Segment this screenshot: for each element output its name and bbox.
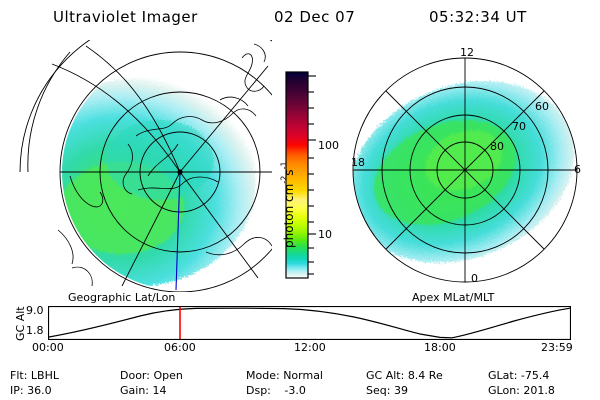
mlt-label-12: 12 [460,46,474,59]
status-seq: Seq: 39 [366,384,408,397]
colorbar-label-100: 100 [318,139,339,152]
status-ip-label: IP: [10,384,24,397]
apex-caption: Apex MLat/MLT [412,291,494,304]
mlt-spokes [353,58,577,282]
status-flt: Flt: LBHL [10,369,59,382]
status-seq-label: Seq: [366,384,390,397]
strip-xtick-0000: 00:00 [32,341,64,354]
status-gcalt-value: 8.4 Re [408,369,443,382]
status-glat: GLat: -75.4 [488,369,549,382]
status-dsp-value: -3.0 [284,384,305,397]
status-glat-label: GLat: [488,369,517,382]
pole-center-marker [177,169,182,174]
status-ip-value: 36.0 [27,384,52,397]
observation-date: 02 Dec 07 [274,8,355,26]
colorbar-exp-minus1: -1 [280,161,289,169]
status-gain-value: 14 [153,384,167,397]
status-door-value: Open [153,369,182,382]
status-seq-value: 39 [394,384,408,397]
colorbar-exp-minus2: -2 [280,176,289,184]
apex-plot [350,40,592,292]
status-ip: IP: 36.0 [10,384,52,397]
strip-xtick-1200: 12:00 [294,341,326,354]
mlat-label-60: 60 [535,100,549,113]
mlt-label-6: 6 [574,163,581,176]
colorbar-unit-photon: photon cm [282,184,296,248]
status-gain: Gain: 14 [120,384,167,397]
status-gcalt-label: GC Alt: [366,369,404,382]
geographic-plot [10,40,272,292]
mlat-label-70: 70 [512,120,526,133]
status-glon-value: 201.8 [523,384,555,397]
status-dsp: Dsp: -3.0 [246,384,306,397]
strip-xtick-2359: 23:59 [541,341,573,354]
mlat-label-80: 80 [490,140,504,153]
status-glon-label: GLon: [488,384,520,397]
orbit-altitude-plot [48,306,571,340]
apex-panel [350,40,592,292]
status-glat-value: -75.4 [521,369,549,382]
instrument-title: Ultraviolet Imager [53,8,198,26]
observation-time: 05:32:34 UT [429,8,527,26]
status-gain-label: Gain: [120,384,149,397]
status-mode: Mode: Normal [246,369,323,382]
colorbar-unit-s: s [282,169,296,175]
strip-chart [48,306,571,340]
mlt-label-0: 0 [471,272,478,285]
strip-ytick-low: 1.8 [26,324,44,337]
status-mode-label: Mode: [246,369,280,382]
colorbar-axis-title: photon cm-2s-1 [278,161,297,248]
status-door-label: Door: [120,369,150,382]
strip-xtick-1800: 18:00 [424,341,456,354]
status-mode-value: Normal [283,369,323,382]
uvi-display: Ultraviolet Imager 02 Dec 07 05:32:34 UT [0,0,600,400]
strip-xtick-0600: 06:00 [164,341,196,354]
strip-ytick-high: 9.0 [26,304,44,317]
colorbar-group [264,62,344,288]
status-glon: GLon: 201.8 [488,384,555,397]
colorbar-label-10: 10 [318,228,332,241]
status-gcalt: GC Alt: 8.4 Re [366,369,443,382]
status-dsp-label: Dsp: [246,384,271,397]
geographic-caption: Geographic Lat/Lon [68,291,175,304]
geographic-panel [10,40,272,292]
status-flt-value: LBHL [31,369,59,382]
mlt-label-18: 18 [351,156,365,169]
colorbar-ticks [308,76,316,274]
status-flt-label: Flt: [10,369,27,382]
status-door: Door: Open [120,369,183,382]
altitude-curve [49,308,570,338]
colorbar [264,62,344,288]
